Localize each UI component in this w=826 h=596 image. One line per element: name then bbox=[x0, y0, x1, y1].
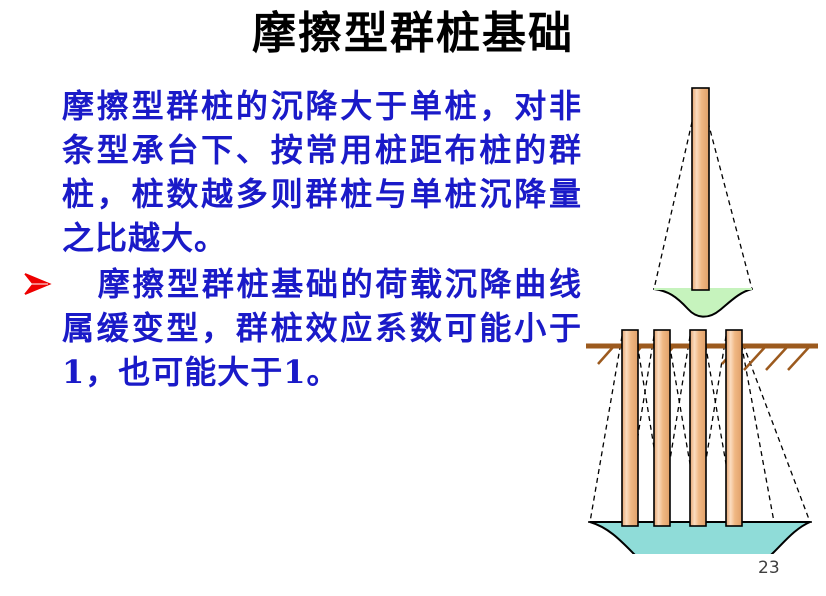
group-pile-shaft-2 bbox=[654, 330, 670, 526]
red-arrow-bullet-icon bbox=[22, 264, 56, 304]
body-text-block: 摩擦型群桩的沉降大于单桩，对非条型承台下、按常用桩距布桩的群桩，桩数越多则群桩与… bbox=[22, 84, 582, 394]
paragraph-2: 摩擦型群桩基础的荷载沉降曲线属缓变型，群桩效应系数可能小于1，也可能大于1。 bbox=[22, 262, 582, 394]
pile-diagram-svg bbox=[580, 84, 826, 554]
paragraph-2-text: 摩擦型群桩基础的荷载沉降曲线属缓变型，群桩效应系数可能小于1，也可能大于1。 bbox=[62, 265, 582, 391]
group-pile-shaft-4 bbox=[726, 330, 742, 526]
group-pile-shaft-1 bbox=[622, 330, 638, 526]
group-pile-group bbox=[586, 330, 818, 554]
page-title: 摩擦型群桩基础 bbox=[0, 6, 826, 62]
page-number: 23 bbox=[758, 558, 780, 578]
paragraph-1: 摩擦型群桩的沉降大于单桩，对非条型承台下、按常用桩距布桩的群桩，桩数越多则群桩与… bbox=[22, 84, 582, 260]
group-pile-shaft-3 bbox=[690, 330, 706, 526]
single-pile-settlement-bulb bbox=[654, 289, 752, 317]
single-pile-group bbox=[654, 88, 752, 317]
single-pile-shaft bbox=[692, 88, 709, 290]
paragraph-1-text: 摩擦型群桩的沉降大于单桩，对非条型承台下、按常用桩距布桩的群桩，桩数越多则群桩与… bbox=[62, 87, 582, 257]
pile-settlement-diagram bbox=[580, 84, 826, 554]
